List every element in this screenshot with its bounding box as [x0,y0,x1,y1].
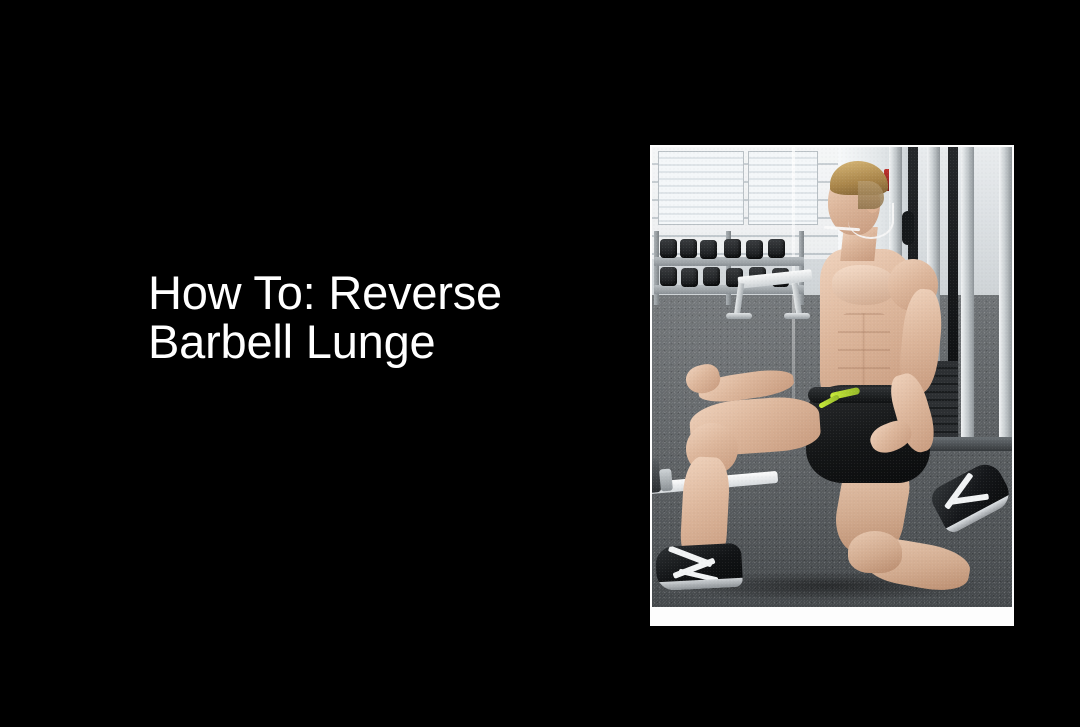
rear-shoe [927,458,1012,535]
exercise-photo [652,147,1012,607]
title-line-1: How To: Reverse [148,268,578,317]
abdominals [838,313,890,387]
front-shoe [655,543,743,591]
rear-knee [848,531,902,573]
photo-frame [650,145,1014,626]
title-line-2: Barbell Lunge [148,317,578,366]
slide-canvas: How To: Reverse Barbell Lunge [0,0,1080,727]
headset-band-icon [848,203,894,239]
chest [832,265,896,305]
shoe-stripe [944,472,974,510]
athlete-figure [652,147,1012,607]
page-title: How To: Reverse Barbell Lunge [148,268,578,366]
